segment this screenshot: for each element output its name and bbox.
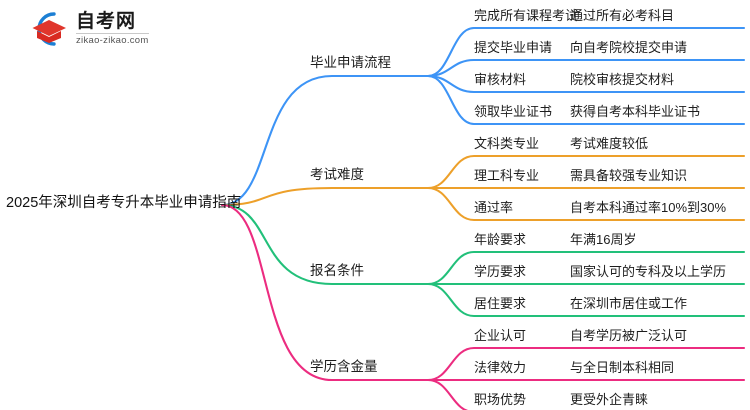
mindmap-leaf-detail[interactable]: 国家认可的专科及以上学历 <box>570 265 726 279</box>
mindmap-branch-3-label[interactable]: 报名条件 <box>310 264 364 279</box>
mindmap-leaf-detail[interactable]: 需具备较强专业知识 <box>570 169 687 183</box>
mindmap-branch-1-label[interactable]: 毕业申请流程 <box>310 56 391 71</box>
mindmap-leaf-detail[interactable]: 在深圳市居住或工作 <box>570 297 687 311</box>
connector-path <box>222 205 428 380</box>
mindmap-leaf-label[interactable]: 文科类专业 <box>474 137 539 151</box>
mindmap-leaf-detail[interactable]: 自考学历被广泛认可 <box>570 329 687 343</box>
mindmap-leaf-label[interactable]: 完成所有课程考试 <box>474 9 578 23</box>
mindmap-leaf-label[interactable]: 法律效力 <box>474 361 526 375</box>
mindmap-leaf-detail[interactable]: 向自考院校提交申请 <box>570 41 687 55</box>
mindmap-leaf-detail[interactable]: 获得自考本科毕业证书 <box>570 105 700 119</box>
mindmap-leaf-label[interactable]: 领取毕业证书 <box>474 105 552 119</box>
mindmap-leaf-detail[interactable]: 更受外企青睐 <box>570 393 648 407</box>
mindmap-leaf-label[interactable]: 学历要求 <box>474 265 526 279</box>
connector-path <box>222 188 428 205</box>
mindmap-leaf-detail[interactable]: 年满16周岁 <box>570 233 636 247</box>
graduation-cap-logo-icon <box>28 10 70 48</box>
mindmap-leaf-label[interactable]: 理工科专业 <box>474 169 539 183</box>
mindmap-leaf-detail[interactable]: 自考本科通过率10%到30% <box>570 201 726 215</box>
logo-brand-cn: 自考网 <box>76 12 149 34</box>
mindmap-leaf-label[interactable]: 职场优势 <box>474 393 526 407</box>
mindmap-leaf-detail[interactable]: 通过所有必考科目 <box>570 9 674 23</box>
mindmap-leaf-detail[interactable]: 院校审核提交材料 <box>570 73 674 87</box>
site-logo: 自考网 zikao-zikao.com <box>28 10 149 48</box>
mindmap-leaf-label[interactable]: 年龄要求 <box>474 233 526 247</box>
mindmap-leaf-label[interactable]: 提交毕业申请 <box>474 41 552 55</box>
mindmap-canvas: 自考网 zikao-zikao.com 2025年深圳自考专升本毕业申请指南 毕… <box>0 0 750 410</box>
mindmap-root-node[interactable]: 2025年深圳自考专升本毕业申请指南 <box>6 196 241 212</box>
logo-brand-en: zikao-zikao.com <box>76 34 149 46</box>
mindmap-leaf-detail[interactable]: 与全日制本科相同 <box>570 361 674 375</box>
mindmap-leaf-label[interactable]: 企业认可 <box>474 329 526 343</box>
mindmap-branch-4-label[interactable]: 学历含金量 <box>310 360 378 375</box>
connector-path <box>222 76 428 205</box>
mindmap-leaf-detail[interactable]: 考试难度较低 <box>570 137 648 151</box>
mindmap-leaf-label[interactable]: 审核材料 <box>474 73 526 87</box>
mindmap-leaf-label[interactable]: 居住要求 <box>474 297 526 311</box>
mindmap-branch-2-label[interactable]: 考试难度 <box>310 168 364 183</box>
mindmap-leaf-label[interactable]: 通过率 <box>474 201 513 215</box>
